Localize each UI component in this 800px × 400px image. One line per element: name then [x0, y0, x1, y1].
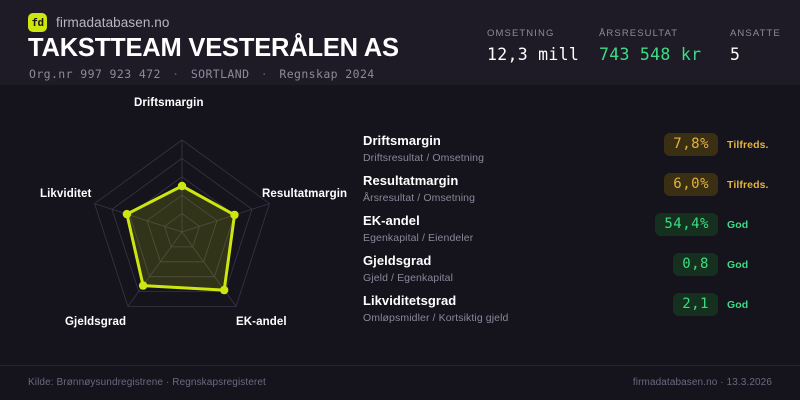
metric-value-badge: 6,0%: [664, 173, 718, 196]
metric-result: 7,8% Tilfreds.: [664, 133, 783, 156]
kpi-value: 12,3 mill: [487, 45, 599, 64]
meta-separator-2: ·: [257, 67, 272, 81]
radar-axis-label-resultatmargin: Resultatmargin: [262, 188, 347, 200]
fiscal-year: Regnskap 2024: [279, 67, 374, 81]
radar-series-area: [127, 186, 235, 290]
radar-point-driftsmargin: [178, 182, 186, 190]
kpi-omsetning: OMSETNING 12,3 mill: [487, 28, 599, 64]
metric-rating: Tilfreds.: [727, 179, 783, 191]
kpi-label: ÅRSRESULTAT: [599, 28, 730, 39]
kpi-arsresultat: ÅRSRESULTAT 743 548 kr: [599, 28, 730, 64]
radar-point-likviditet: [123, 210, 131, 218]
company-meta: Org.nr 997 923 472 · SORTLAND · Regnskap…: [29, 67, 375, 81]
radar-axis-label-likviditet: Likviditet: [40, 188, 91, 200]
report-card: fd firmadatabasen.no TAKSTTEAM VESTERÅLE…: [0, 0, 800, 400]
metric-rating: God: [727, 299, 783, 311]
radar-axis-label-ek-andel: EK-andel: [236, 316, 287, 328]
radar-axis-label-driftsmargin: Driftsmargin: [134, 97, 204, 109]
firmadatabasen-logo-icon: fd: [28, 13, 47, 32]
radar-axis-label-gjeldsgrad: Gjeldsgrad: [65, 316, 126, 328]
metric-result: 6,0% Tilfreds.: [664, 173, 783, 196]
metric-row-ek-andel[interactable]: EK-andel Egenkapital / Eiendeler 54,4% G…: [363, 212, 783, 252]
kpi-label: OMSETNING: [487, 28, 599, 39]
meta-separator-1: ·: [168, 67, 183, 81]
metrics-list: Driftsmargin Driftsresultat / Omsetning …: [363, 132, 783, 332]
page-title: TAKSTTEAM VESTERÅLEN AS: [28, 34, 399, 63]
metric-result: 0,8 God: [673, 253, 783, 276]
company-city: SORTLAND: [191, 67, 250, 81]
header-band: fd firmadatabasen.no TAKSTTEAM VESTERÅLE…: [0, 0, 800, 85]
metric-rating: Tilfreds.: [727, 139, 783, 151]
metric-row-gjeldsgrad[interactable]: Gjeldsgrad Gjeld / Egenkapital 0,8 God: [363, 252, 783, 292]
metric-rating: God: [727, 259, 783, 271]
footer-source: Kilde: Brønnøysundregistrene · Regnskaps…: [28, 377, 266, 388]
metric-row-likviditetsgrad[interactable]: Likviditetsgrad Omløpsmidler / Kortsikti…: [363, 292, 783, 332]
metric-value-badge: 0,8: [673, 253, 718, 276]
footer-attribution: firmadatabasen.no · 13.3.2026: [633, 377, 772, 388]
kpi-ansatte: ANSATTE 5: [730, 28, 781, 64]
metric-value-badge: 54,4%: [655, 213, 718, 236]
radar-point-ek-andel: [220, 286, 228, 294]
radar-point-gjeldsgrad: [139, 281, 147, 289]
metric-value-badge: 7,8%: [664, 133, 718, 156]
metric-row-resultatmargin[interactable]: Resultatmargin Årsresultat / Omsetning 6…: [363, 172, 783, 212]
metric-row-driftsmargin[interactable]: Driftsmargin Driftsresultat / Omsetning …: [363, 132, 783, 172]
radar-chart: Driftsmargin Resultatmargin EK-andel Gje…: [0, 85, 355, 360]
radar-point-resultatmargin: [230, 211, 238, 219]
metric-result: 2,1 God: [673, 293, 783, 316]
brand-name: firmadatabasen.no: [56, 15, 170, 30]
org-number: Org.nr 997 923 472: [29, 67, 161, 81]
metric-value-badge: 2,1: [673, 293, 718, 316]
brand[interactable]: fd firmadatabasen.no: [28, 13, 170, 32]
kpi-label: ANSATTE: [730, 28, 781, 39]
radar-chart-svg: [0, 85, 355, 360]
metric-result: 54,4% God: [655, 213, 783, 236]
footer: Kilde: Brønnøysundregistrene · Regnskaps…: [0, 365, 800, 400]
kpi-value: 5: [730, 45, 781, 64]
kpi-strip: OMSETNING 12,3 mill ÅRSRESULTAT 743 548 …: [487, 28, 781, 64]
metric-rating: God: [727, 219, 783, 231]
kpi-value: 743 548 kr: [599, 45, 730, 64]
